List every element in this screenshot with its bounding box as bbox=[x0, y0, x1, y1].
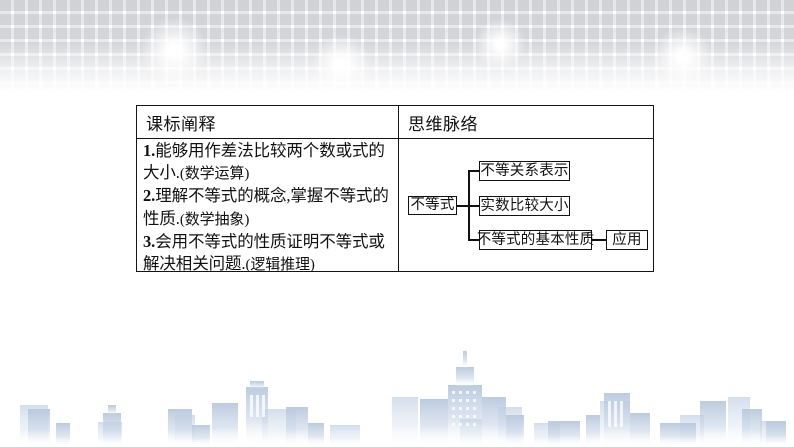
content-table: 课标阐释 思维脉络 1.能够用作差法比较两个数或式的大小.(数学运算) 2.理解… bbox=[136, 105, 654, 272]
list-item: 1.能够用作差法比较两个数或式的大小.(数学运算) bbox=[143, 140, 394, 185]
mindmap-root-node: 不等式 bbox=[408, 196, 457, 215]
skyline-back-row bbox=[20, 397, 786, 447]
list-item: 2.理解不等式的概念,掌握不等式的性质.(数学抽象) bbox=[143, 185, 394, 230]
column-header-mindmap: 思维脉络 bbox=[399, 106, 653, 138]
skyline-decoration bbox=[0, 337, 794, 447]
standards-cell: 1.能够用作差法比较两个数或式的大小.(数学运算) 2.理解不等式的概念,掌握不… bbox=[137, 139, 399, 272]
table-header-row: 课标阐释 思维脉络 bbox=[137, 106, 653, 139]
skyline-window-detail bbox=[250, 391, 623, 427]
table-body-row: 1.能够用作差法比较两个数或式的大小.(数学运算) 2.理解不等式的概念,掌握不… bbox=[137, 139, 653, 272]
mindmap-branch-node-2: 实数比较大小 bbox=[479, 196, 570, 216]
objective-number: 1. bbox=[143, 141, 155, 160]
mindmap-diagram: 不等式 不等关系表示 实数比较大小 不等式的基本性质 应用 bbox=[399, 139, 653, 272]
objective-number: 2. bbox=[143, 186, 155, 205]
skyline-front-row bbox=[28, 351, 786, 447]
objective-tag: (数学运算) bbox=[180, 166, 249, 182]
connector-branch-3-child bbox=[592, 239, 607, 241]
objective-tag: (逻辑推理) bbox=[245, 257, 314, 273]
top-grid-decoration bbox=[0, 0, 794, 92]
objective-tag: (数学抽象) bbox=[180, 212, 249, 228]
column-header-standards: 课标阐释 bbox=[137, 106, 399, 138]
mindmap-cell: 不等式 不等关系表示 实数比较大小 不等式的基本性质 应用 bbox=[399, 139, 653, 272]
mindmap-branch-node-1: 不等关系表示 bbox=[479, 161, 570, 181]
list-item: 3.会用不等式的性质证明不等式或解决相关问题.(逻辑推理) bbox=[143, 231, 394, 276]
objective-number: 3. bbox=[143, 232, 155, 251]
mindmap-branch-node-3: 不等式的基本性质 bbox=[479, 230, 592, 250]
objectives-list: 1.能够用作差法比较两个数或式的大小.(数学运算) 2.理解不等式的概念,掌握不… bbox=[137, 139, 398, 276]
mindmap-leaf-node-application: 应用 bbox=[606, 230, 648, 250]
